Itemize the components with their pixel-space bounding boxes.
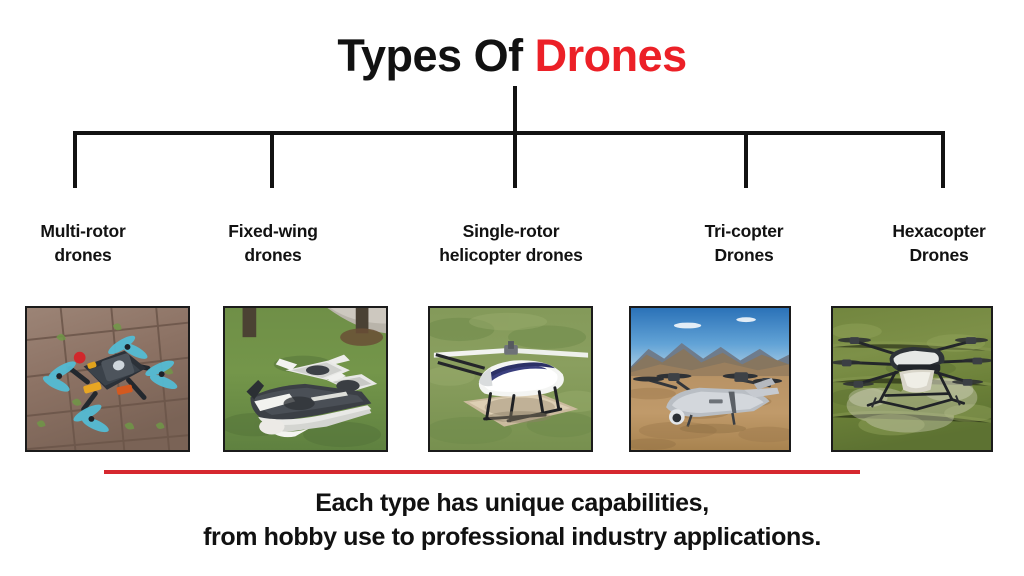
bracket-drop-3 [513,131,517,188]
photo-tri-copter-drones [629,306,791,452]
category-label-tri-copter: Tri-copter Drones [669,219,819,267]
bracket-stem [513,86,517,135]
tri-copter-drone-image [631,308,789,450]
photo-multi-rotor-drones [25,306,190,452]
infographic-canvas: Types Of Drones Multi-rotor drones Fixed… [0,0,1024,576]
label-line-1: Fixed-wing [228,221,317,241]
footer-caption-line-1: Each type has unique capabilities, [0,487,1024,521]
fixed-wing-drone-image [225,308,386,450]
category-label-fixed-wing: Fixed-wing drones [198,219,348,267]
label-line-1: Tri-copter [705,221,784,241]
footer-divider-rule [104,470,860,474]
bracket-drop-2 [270,131,274,188]
category-label-hexacopter: Hexacopter Drones [864,219,1014,267]
hexacopter-drone-image [833,308,991,450]
photo-hexacopter-drones [831,306,993,452]
label-line-2: Drones [909,245,968,265]
bracket-drop-1 [73,131,77,188]
multi-rotor-drone-image [27,308,188,450]
page-title: Types Of Drones [0,32,1024,81]
single-rotor-helicopter-image [430,308,591,450]
bracket-drop-5 [941,131,945,188]
bracket-horizontal-bar [73,131,945,135]
label-line-2: drones [244,245,301,265]
photo-single-rotor-helicopter-drones [428,306,593,452]
bracket-drop-4 [744,131,748,188]
category-label-multi-rotor: Multi-rotor drones [8,219,158,267]
label-line-1: Hexacopter [892,221,985,241]
label-line-2: Drones [714,245,773,265]
label-line-1: Multi-rotor [40,221,125,241]
title-accent: Drones [535,30,687,81]
label-line-2: drones [54,245,111,265]
label-line-2: helicopter drones [439,245,582,265]
footer-caption-line-2: from hobby use to professional industry … [0,521,1024,555]
category-label-single-rotor: Single-rotor helicopter drones [400,219,622,267]
footer-caption: Each type has unique capabilities, from … [0,487,1024,554]
label-line-1: Single-rotor [463,221,560,241]
title-prefix: Types Of [337,30,534,81]
photo-fixed-wing-drones [223,306,388,452]
